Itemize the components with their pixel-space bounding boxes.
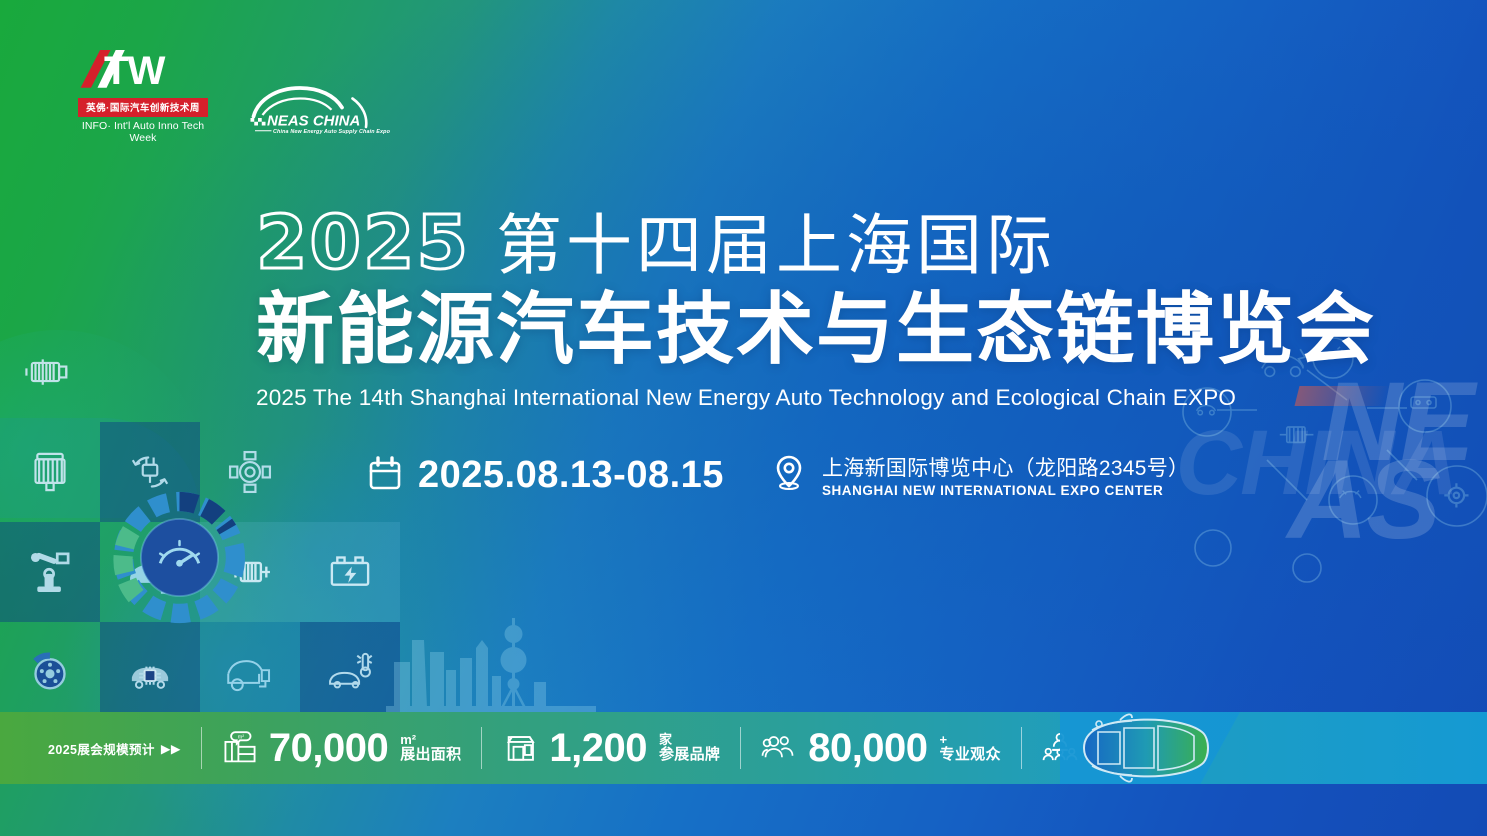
title-cn-line1: 第十四届上海国际 — [496, 212, 1056, 278]
tile-chip-car-icon — [100, 622, 200, 722]
venue-en: SHANGHAI NEW INTERNATIONAL EXPO CENTER — [822, 483, 1189, 498]
stats-divider — [201, 727, 202, 769]
visitors-icon — [761, 729, 797, 768]
title-cn-line2: 新能源汽车技术与生态链博览会 — [256, 286, 1376, 373]
decor-gauge-gear-icon — [112, 490, 247, 625]
venue-text-group: 上海新国际博览中心（龙阳路2345号） SHANGHAI NEW INTERNA… — [822, 452, 1189, 498]
atw-en-strip: INFO· Int'l Auto Inno Tech Week — [78, 120, 208, 144]
exhibition-banner: NE CHINA AS TW 英佛·国际汽车创新技术周 INFO· Int'l … — [0, 0, 1487, 836]
event-info-row: 2025.08.13-08.15 上海新国际博览中心（龙阳路2345号） SHA… — [368, 452, 1189, 498]
stat-area-unit-bottom: 展出面积 — [400, 747, 461, 763]
calendar-icon — [368, 455, 402, 496]
tile-brake-disc-icon — [0, 622, 100, 722]
booth-icon — [502, 729, 538, 768]
watermark-as: AS — [1287, 452, 1439, 548]
logo-group: TW 英佛·国际汽车创新技术周 INFO· Int'l Auto Inno Te… — [78, 46, 390, 144]
stats-lead-arrows: ▶▶ — [161, 741, 181, 756]
decor-car-topview-outline — [1062, 700, 1282, 796]
tile-robot-arm-icon — [0, 522, 100, 622]
tile-charging-car-icon — [200, 622, 300, 722]
atw-cn-strip: 英佛·国际汽车创新技术周 — [78, 98, 208, 117]
title-en-subtitle: 2025 The 14th Shanghai International New… — [256, 385, 1376, 411]
location-pin-icon — [772, 453, 806, 498]
stat-visitors-unit-bottom: 专业观众 — [940, 747, 1001, 763]
stats-lead-text: 2025展会规模预计 — [48, 739, 155, 758]
event-venue: 上海新国际博览中心（龙阳路2345号） SHANGHAI NEW INTERNA… — [772, 452, 1189, 498]
svg-text:m²: m² — [237, 734, 244, 740]
stats-divider-4 — [1021, 727, 1022, 769]
title-block: 2025 第十四届上海国际 新能源汽车技术与生态链博览会 2025 The 14… — [256, 206, 1376, 411]
stats-lead: 2025展会规模预计 ▶▶ — [48, 739, 181, 758]
logo-atw[interactable]: TW 英佛·国际汽车创新技术周 INFO· Int'l Auto Inno Te… — [78, 46, 208, 144]
stat-visitors-value: 80,000 — [808, 728, 927, 768]
event-date: 2025.08.13-08.15 — [368, 454, 724, 497]
tile-battery-icon — [300, 522, 400, 622]
event-date-text: 2025.08.13-08.15 — [418, 454, 724, 497]
stat-brands-unit-top: 家 — [659, 733, 720, 747]
svg-text:China New Energy Auto Supply C: China New Energy Auto Supply Chain Expo — [273, 129, 390, 135]
svg-text:TW: TW — [104, 48, 165, 93]
stat-visitors-sup: + — [940, 733, 1001, 747]
tile-motor-icon — [0, 322, 100, 422]
svg-text:NEAS CHINA: NEAS CHINA — [267, 112, 360, 129]
stat-area: m² 70,000 m² 展出面积 — [222, 728, 462, 768]
stat-brands: 1,200 家 参展品牌 — [502, 728, 720, 768]
stat-area-units: m² 展出面积 — [400, 733, 461, 762]
atw-wordmark: TW — [78, 46, 208, 98]
logo-neas-china[interactable]: NEAS CHINA China New Energy Auto Supply … — [240, 82, 390, 144]
stats-divider-3 — [740, 727, 741, 769]
stat-brands-unit-bottom: 参展品牌 — [659, 747, 720, 763]
decor-shanghai-skyline — [386, 600, 596, 712]
stat-brands-units: 家 参展品牌 — [659, 733, 720, 762]
venue-cn: 上海新国际博览中心（龙阳路2345号） — [822, 452, 1189, 482]
stat-visitors: 80,000 + 专业观众 — [761, 728, 1001, 768]
floorplan-icon: m² — [222, 729, 258, 768]
stat-brands-value: 1,200 — [549, 728, 647, 768]
tile-radiator-icon — [0, 422, 100, 522]
title-line-1: 2025 第十四届上海国际 — [256, 206, 1376, 280]
title-year: 2025 — [256, 206, 470, 280]
stat-area-unit-top: m² — [400, 733, 461, 747]
stat-visitors-units: + 专业观众 — [940, 733, 1001, 762]
stats-divider-2 — [481, 727, 482, 769]
stat-area-value: 70,000 — [269, 728, 388, 768]
tile-climate-car-icon — [300, 622, 400, 722]
